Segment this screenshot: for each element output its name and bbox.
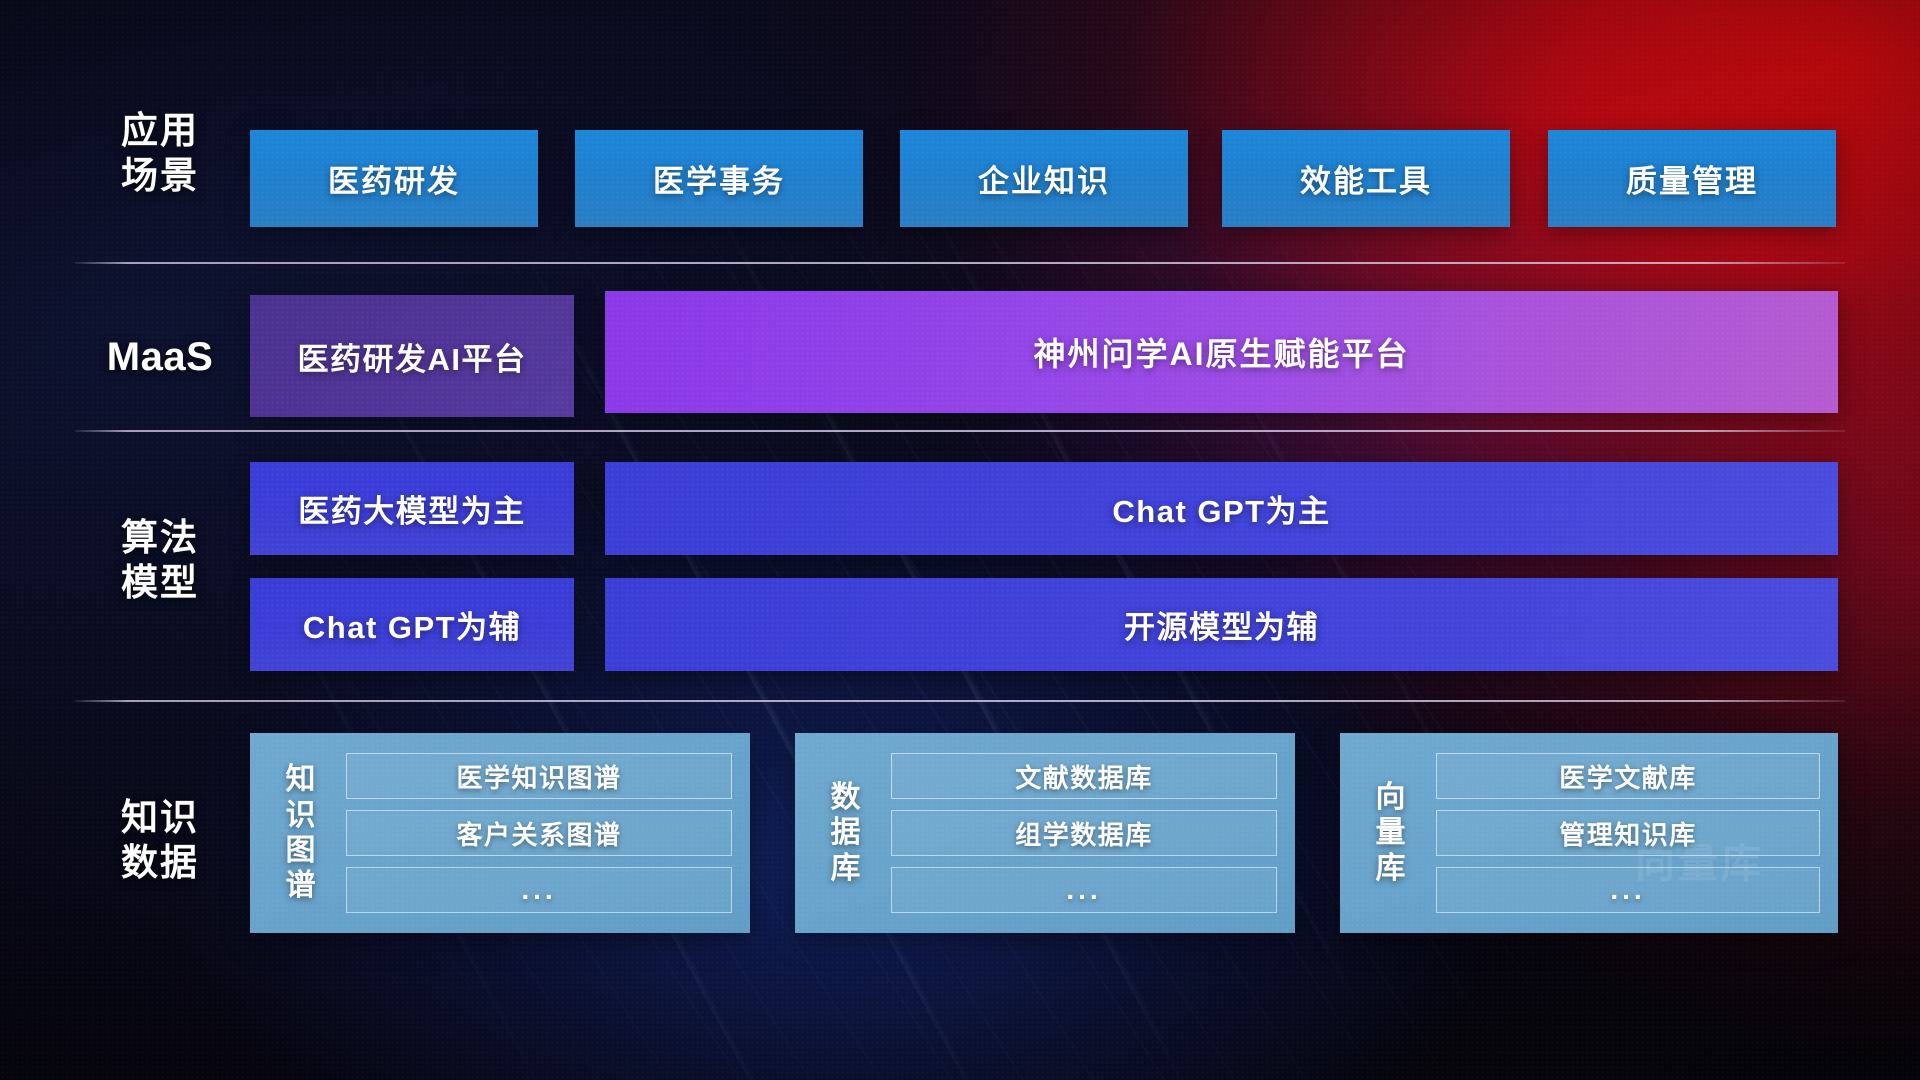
list-item-more[interactable]: ... [346, 867, 732, 913]
list-item[interactable]: 客户关系图谱 [346, 810, 732, 856]
list-item[interactable]: 管理知识库 [1436, 810, 1820, 856]
knowledge-panel-database-items: 文献数据库 组学数据库 ... [891, 753, 1277, 913]
row-label-algorithm-model: 算法 模型 [75, 515, 245, 605]
algo-box-pharma-llm-primary[interactable]: 医药大模型为主 [250, 462, 574, 555]
list-item[interactable]: 医学文献库 [1436, 753, 1820, 799]
maas-box-pharma-rd-ai-platform-label: 医药研发AI平台 [298, 334, 527, 379]
divider-after-algorithm-model [75, 700, 1845, 702]
app-box-efficiency-tools-label: 效能工具 [1300, 156, 1432, 201]
algo-box-opensource-secondary[interactable]: 开源模型为辅 [605, 578, 1838, 671]
knowledge-panel-knowledge-graph-items: 医学知识图谱 客户关系图谱 ... [346, 753, 732, 913]
knowledge-panel-vector-store-items: 医学文献库 管理知识库 ... [1436, 753, 1820, 913]
row-label-application-scenarios: 应用 场景 [75, 108, 245, 198]
app-box-quality-management[interactable]: 质量管理 [1548, 130, 1836, 227]
app-box-enterprise-knowledge[interactable]: 企业知识 [900, 130, 1188, 227]
knowledge-panel-knowledge-graph[interactable]: 知 识 图 谱 医学知识图谱 客户关系图谱 ... [250, 733, 750, 933]
app-box-enterprise-knowledge-label: 企业知识 [978, 156, 1110, 201]
algo-box-chatgpt-primary-label: Chat GPT为主 [1112, 486, 1330, 531]
row-label-maas: MaaS [75, 333, 245, 382]
app-box-medical-affairs[interactable]: 医学事务 [575, 130, 863, 227]
app-box-pharma-rd-label: 医药研发 [328, 156, 460, 201]
row-label-knowledge-data: 知识 数据 [75, 795, 245, 885]
maas-box-shenzhou-wenxue-platform-label: 神州问学AI原生赋能平台 [1033, 329, 1409, 375]
app-box-medical-affairs-label: 医学事务 [653, 156, 785, 201]
knowledge-panel-database[interactable]: 数 据 库 文献数据库 组学数据库 ... [795, 733, 1295, 933]
algo-box-chatgpt-secondary[interactable]: Chat GPT为辅 [250, 578, 574, 671]
list-item-more[interactable]: ... [1436, 867, 1820, 913]
algo-box-chatgpt-secondary-label: Chat GPT为辅 [303, 602, 521, 647]
knowledge-panel-vector-store-vertical-label: 向 量 库 [1362, 780, 1420, 886]
app-box-quality-management-label: 质量管理 [1626, 156, 1758, 201]
list-item[interactable]: 医学知识图谱 [346, 753, 732, 799]
maas-box-shenzhou-wenxue-platform[interactable]: 神州问学AI原生赋能平台 [605, 291, 1838, 413]
app-box-pharma-rd[interactable]: 医药研发 [250, 130, 538, 227]
list-item[interactable]: 文献数据库 [891, 753, 1277, 799]
list-item[interactable]: 组学数据库 [891, 810, 1277, 856]
divider-after-maas [75, 430, 1845, 432]
algo-box-opensource-secondary-label: 开源模型为辅 [1124, 602, 1319, 647]
diagram-canvas: 应用 场景 医药研发 医学事务 企业知识 效能工具 质量管理 MaaS 医药研发… [0, 0, 1920, 1080]
algo-box-pharma-llm-primary-label: 医药大模型为主 [298, 486, 526, 531]
knowledge-panel-knowledge-graph-vertical-label: 知 识 图 谱 [272, 762, 330, 904]
divider-after-application-scenarios [75, 262, 1845, 264]
maas-box-pharma-rd-ai-platform[interactable]: 医药研发AI平台 [250, 295, 574, 417]
app-box-efficiency-tools[interactable]: 效能工具 [1222, 130, 1510, 227]
knowledge-panel-database-vertical-label: 数 据 库 [817, 780, 875, 886]
algo-box-chatgpt-primary[interactable]: Chat GPT为主 [605, 462, 1838, 555]
knowledge-panel-vector-store[interactable]: 向量库 向 量 库 医学文献库 管理知识库 ... [1340, 733, 1838, 933]
list-item-more[interactable]: ... [891, 867, 1277, 913]
